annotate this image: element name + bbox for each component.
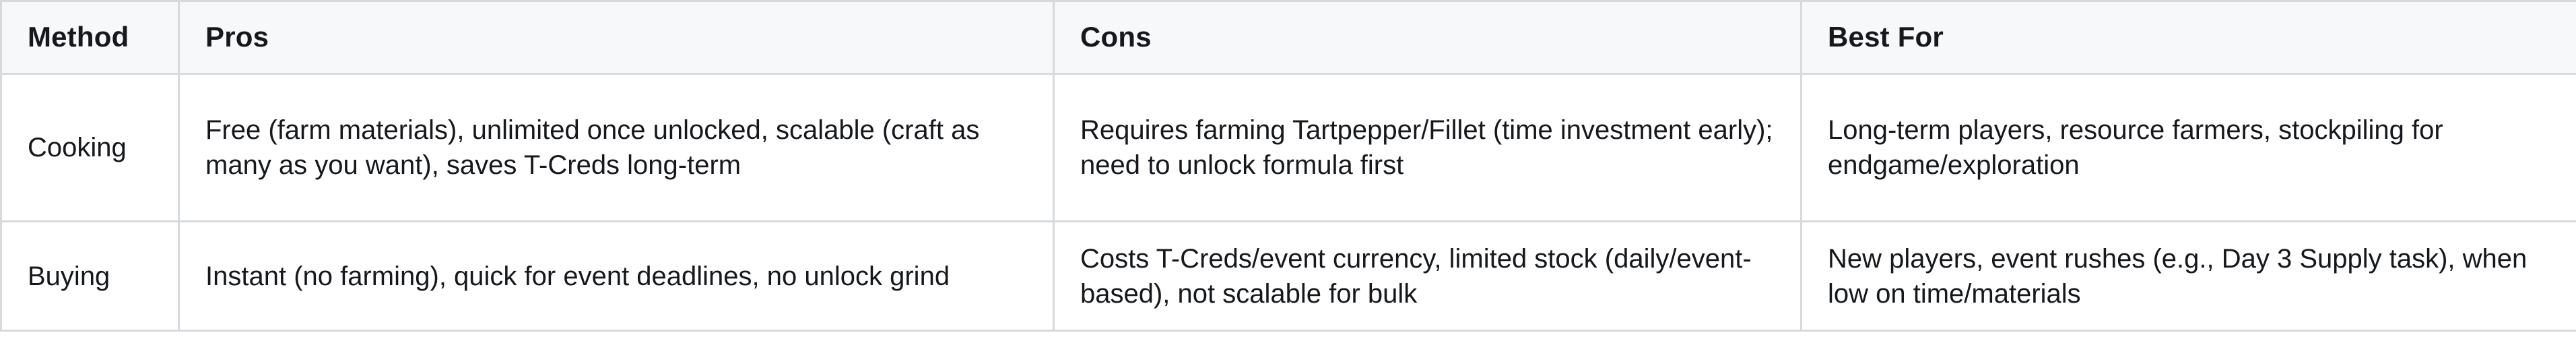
cell-pros-buying: Instant (no farming), quick for event de… xyxy=(179,222,1054,331)
column-header-method: Method xyxy=(1,1,179,74)
cell-bestfor-buying: New players, event rushes (e.g., Day 3 S… xyxy=(1802,222,2576,331)
table-body: Cooking Free (farm materials), unlimited… xyxy=(1,74,2576,331)
cell-bestfor-cooking: Long-term players, resource farmers, sto… xyxy=(1802,74,2576,222)
cell-pros-cooking: Free (farm materials), unlimited once un… xyxy=(179,74,1054,222)
table-header-row: Method Pros Cons Best For xyxy=(1,1,2576,74)
column-header-cons: Cons xyxy=(1054,1,1802,74)
table-row: Cooking Free (farm materials), unlimited… xyxy=(1,74,2576,222)
column-header-bestfor: Best For xyxy=(1802,1,2576,74)
table-row: Buying Instant (no farming), quick for e… xyxy=(1,222,2576,331)
cell-method-cooking: Cooking xyxy=(1,74,179,222)
cell-method-buying: Buying xyxy=(1,222,179,331)
cell-cons-cooking: Requires farming Tartpepper/Fillet (time… xyxy=(1054,74,1802,222)
cell-cons-buying: Costs T-Creds/event currency, limited st… xyxy=(1054,222,1802,331)
comparison-table: Method Pros Cons Best For Cooking Free (… xyxy=(0,0,2576,332)
column-header-pros: Pros xyxy=(179,1,1054,74)
table-header: Method Pros Cons Best For xyxy=(1,1,2576,74)
